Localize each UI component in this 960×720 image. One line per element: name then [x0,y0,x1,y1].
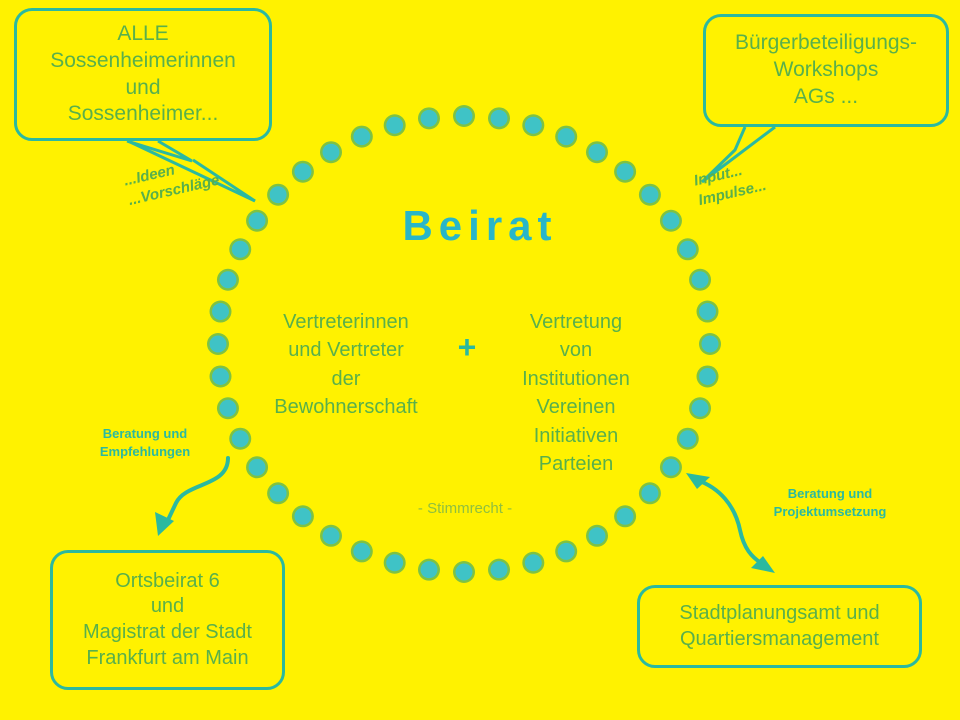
annotation-beratung-projektumsetzung-line-1: Beratung und [745,485,915,503]
box-stadtplanung[interactable]: Stadtplanungsamt und Quartiersmanagement [637,585,922,668]
arrow-beratung-empfehlungen [167,458,228,522]
column-institutions-line-4: Vereinen [492,393,660,421]
annotation-beratung-projektumsetzung: Beratung und Projektumsetzung [745,485,915,520]
column-residents-line-3: der [262,365,430,393]
column-institutions-line-5: Initiativen [492,422,660,450]
column-residents-line-4: Bewohnerschaft [262,393,430,421]
box-ortsbeirat-line-1: Ortsbeirat 6 [53,569,282,595]
bubble-citizens-line-2: Sossenheimerinnen [17,48,269,75]
bubble-workshops-line-3: AGs ... [706,84,946,111]
box-ortsbeirat-line-4: Frankfurt am Main [53,646,282,672]
column-residents-line-1: Vertreterinnen [262,308,430,336]
column-institutions-line-1: Vertretung [492,308,660,336]
column-institutions-line-2: von [492,336,660,364]
column-residents: Vertreterinnen und Vertreter der Bewohne… [262,308,430,422]
bubble-citizens-line-3: und [17,75,269,102]
diagram-canvas: ALLE Sossenheimerinnen und Sossenheimer.… [0,0,960,720]
column-institutions-line-6: Parteien [492,450,660,478]
annotation-beratung-empfehlungen-line-2: Empfehlungen [70,443,220,461]
stimmrecht-footnote: - Stimmrecht - [355,500,575,517]
box-ortsbeirat-line-2: und [53,594,282,620]
box-stadtplanung-line-2: Quartiersmanagement [640,627,919,653]
annotation-beratung-empfehlungen-line-1: Beratung und [70,425,220,443]
column-residents-line-2: und Vertreter [262,336,430,364]
bubble-workshops-line-1: Bürgerbeteiligungs- [706,30,946,57]
box-stadtplanung-line-1: Stadtplanungsamt und [640,601,919,627]
plus-icon: + [450,331,484,363]
arrowhead-up-left [686,473,710,489]
annotation-beratung-projektumsetzung-line-2: Projektumsetzung [745,503,915,521]
bubble-workshops-line-2: Workshops [706,57,946,84]
column-institutions-line-3: Institutionen [492,365,660,393]
beirat-title: Beirat [0,202,960,250]
box-ortsbeirat[interactable]: Ortsbeirat 6 und Magistrat der Stadt Fra… [50,550,285,690]
bubble-citizens-line-1: ALLE [17,21,269,48]
annotation-beratung-empfehlungen: Beratung und Empfehlungen [70,425,220,460]
bubble-citizens[interactable]: ALLE Sossenheimerinnen und Sossenheimer.… [14,8,272,141]
bubble-citizens-line-4: Sossenheimer... [17,101,269,128]
column-institutions: Vertretung von Institutionen Vereinen In… [492,308,660,478]
bubble-workshops[interactable]: Bürgerbeteiligungs- Workshops AGs ... [703,14,949,127]
box-ortsbeirat-line-3: Magistrat der Stadt [53,620,282,646]
